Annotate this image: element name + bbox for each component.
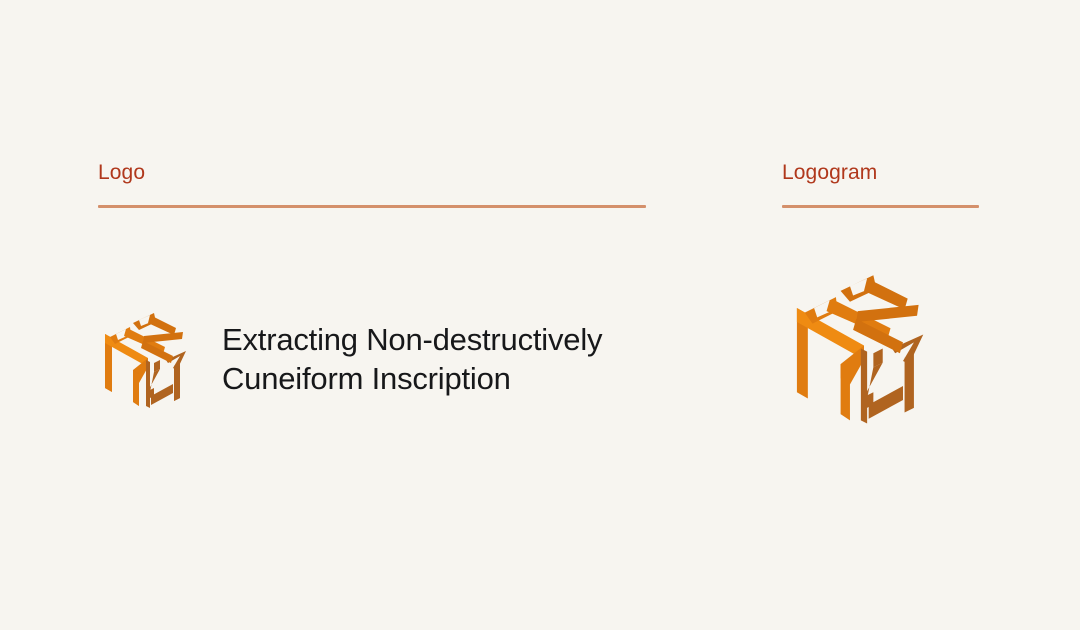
- section-label-logo: Logo: [98, 160, 646, 186]
- section-rule-logo: [98, 205, 646, 208]
- brand-identity-sheet: Logo: [0, 0, 1080, 630]
- section-logogram: Logogram: [782, 160, 979, 208]
- wordmark-line-2: Cuneiform Inscription: [222, 359, 602, 398]
- logo-lockup: Extracting Non-destructively Cuneiform I…: [98, 308, 602, 410]
- section-label-logogram: Logogram: [782, 160, 979, 186]
- cuneiform-cube-logo-icon: [98, 308, 198, 410]
- section-rule-logogram: [782, 205, 979, 208]
- logo-wordmark: Extracting Non-destructively Cuneiform I…: [222, 320, 602, 398]
- cuneiform-cube-logogram-icon: [786, 262, 942, 432]
- wordmark-line-1: Extracting Non-destructively: [222, 320, 602, 359]
- section-logo: Logo: [98, 160, 646, 208]
